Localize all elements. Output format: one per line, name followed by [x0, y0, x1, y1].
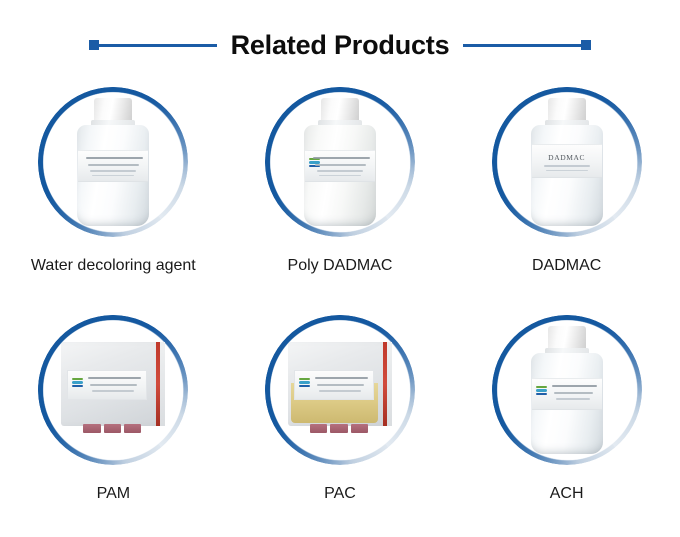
pouch-label: [294, 370, 374, 400]
product-image-frame: [485, 308, 649, 472]
pouch-base-clips: [83, 424, 141, 433]
left-square-marker-icon: [89, 40, 99, 50]
product-caption: ACH: [550, 485, 584, 503]
product-card-poly-dadmac[interactable]: Poly DADMAC: [227, 80, 454, 308]
product-caption: PAM: [97, 485, 130, 503]
bottle-cap: [548, 326, 586, 350]
product-caption: DADMAC: [532, 257, 601, 275]
page-title: Related Products: [217, 32, 464, 59]
product-image-frame: [258, 80, 422, 244]
bottle-label: [532, 378, 602, 410]
right-rule-line: [463, 44, 581, 47]
product-card-dadmac[interactable]: DADMAC DADMAC: [453, 80, 680, 308]
pouch-edge: [160, 342, 165, 426]
bottle-cap: [321, 98, 359, 122]
product-image-pouch: [285, 322, 395, 458]
product-image-frame: [31, 308, 195, 472]
product-card-water-decoloring-agent[interactable]: Water decoloring agent: [0, 80, 227, 308]
bottle-cap: [548, 98, 586, 122]
product-image-bottle: [512, 322, 622, 458]
product-card-ach[interactable]: ACH: [453, 308, 680, 536]
product-image-bottle: [58, 94, 168, 230]
product-card-pac[interactable]: PAC: [227, 308, 454, 536]
pouch-label: [67, 370, 147, 400]
product-image-bottle: DADMAC: [512, 94, 622, 230]
product-image-frame: [31, 80, 195, 244]
product-card-pam[interactable]: PAM: [0, 308, 227, 536]
brand-logo-icon: [536, 386, 547, 398]
bottle-label-text: DADMAC: [532, 153, 602, 162]
product-image-frame: [258, 308, 422, 472]
bottle-cap: [94, 98, 132, 122]
brand-logo-icon: [72, 378, 83, 390]
product-image-bottle: [285, 94, 395, 230]
product-caption: Water decoloring agent: [31, 257, 196, 275]
product-image-pouch: [58, 322, 168, 458]
left-rule-line: [99, 44, 217, 47]
bottle-label: [78, 150, 148, 182]
pouch-base-clips: [310, 424, 368, 433]
bottle-label: [305, 150, 375, 182]
product-caption: PAC: [324, 485, 356, 503]
related-products-section: Related Products: [0, 0, 680, 537]
pouch-edge: [387, 342, 392, 426]
bottle-label: DADMAC: [532, 144, 602, 178]
right-square-marker-icon: [581, 40, 591, 50]
product-caption: Poly DADMAC: [288, 257, 393, 275]
brand-logo-icon: [299, 378, 310, 390]
product-grid: Water decoloring agent: [0, 80, 680, 536]
product-image-frame: DADMAC: [485, 80, 649, 244]
section-header: Related Products: [0, 28, 680, 62]
